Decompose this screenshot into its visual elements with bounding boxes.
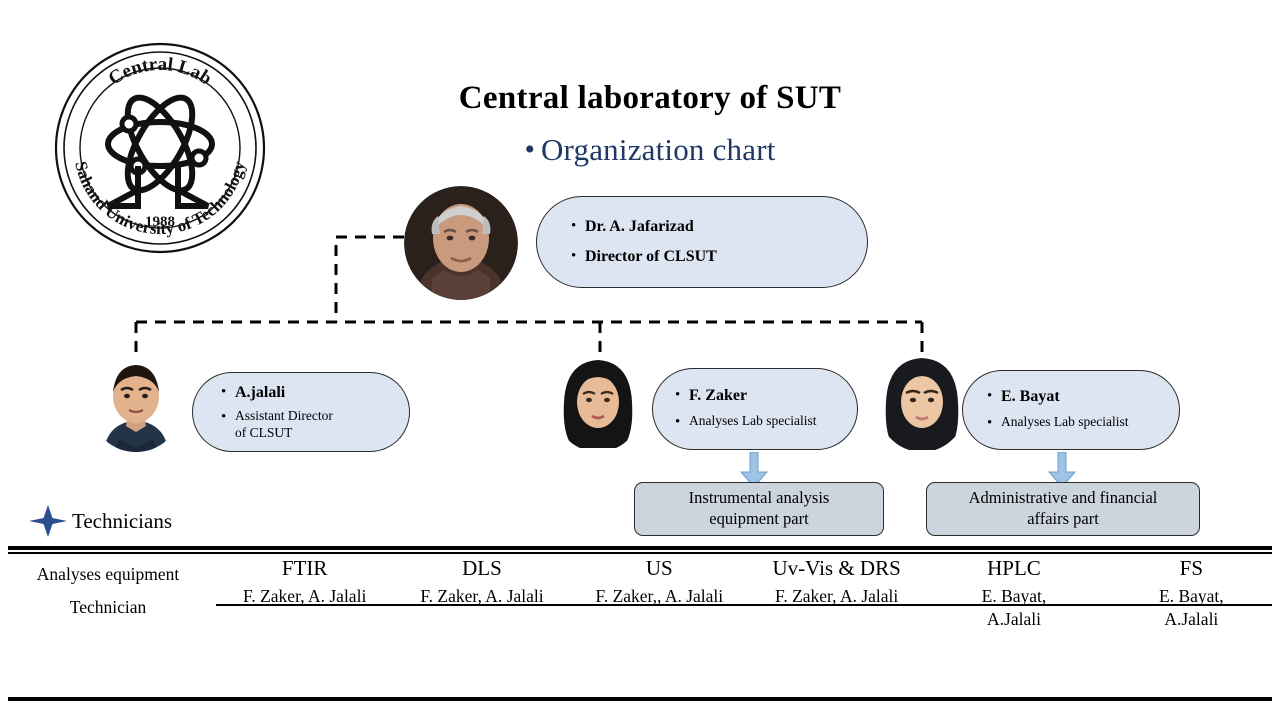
avatar-assistant	[88, 352, 184, 452]
column-header-uvvis-drs: Uv-Vis & DRS	[748, 556, 925, 585]
column-header-ftir: FTIR	[216, 556, 393, 585]
column-header-dls: DLS	[393, 556, 570, 585]
central-lab-logo: 1988 Central Lab Sahand University of Te…	[52, 40, 268, 256]
table-row-technician: Technician F. Zaker, A. Jalali F. Zaker,…	[0, 585, 1280, 645]
assistant-name: A.jalali	[235, 383, 285, 403]
bayat-name: E. Bayat	[1001, 387, 1060, 407]
assistant-role-line: • Assistant Director of CLSUT	[221, 408, 395, 441]
bullet-icon: •	[524, 135, 535, 165]
table-row-header: Analyses equipment FTIR DLS US Uv-Vis & …	[0, 556, 1280, 585]
technician-fs-line1: E. Bayat,	[1159, 586, 1224, 606]
bullet-icon: •	[987, 387, 1001, 406]
person-card-director[interactable]: • Dr. A. Jafarizad • Director of CLSUT	[536, 196, 868, 288]
zaker-name-line: • F. Zaker	[675, 386, 845, 406]
avatar-director	[404, 186, 518, 300]
avatar-specialist-bayat	[876, 352, 968, 452]
technician-cell-fs: E. Bayat, A.Jalali	[1103, 585, 1280, 645]
page-subtitle: Organization chart	[541, 132, 776, 168]
part-instrumental-text: Instrumental analysis equipment part	[689, 488, 830, 529]
column-header-us: US	[571, 556, 748, 585]
bullet-icon: •	[675, 386, 689, 405]
technician-cell-us: F. Zaker,, A. Jalali	[571, 585, 748, 645]
zaker-role: Analyses Lab specialist	[689, 413, 816, 429]
part-instrumental-line1: Instrumental analysis	[689, 488, 830, 507]
avatar-specialist-zaker	[552, 352, 644, 452]
column-header-fs: FS	[1103, 556, 1280, 585]
four-point-star-icon	[28, 503, 68, 539]
assistant-name-line: • A.jalali	[221, 383, 395, 403]
technician-cell-dls: F. Zaker, A. Jalali	[393, 585, 570, 645]
bullet-icon: •	[987, 414, 1001, 433]
person-card-assistant[interactable]: • A.jalali • Assistant Director of CLSUT	[192, 372, 410, 452]
technician-us-line1: F. Zaker,, A. Jalali	[595, 586, 723, 606]
bullet-icon: •	[221, 408, 235, 427]
part-administrative-line2: affairs part	[1027, 509, 1099, 528]
bullet-icon: •	[571, 217, 585, 236]
person-card-bayat[interactable]: • E. Bayat • Analyses Lab specialist	[962, 370, 1180, 450]
subtitle-row: • Organization chart	[330, 132, 970, 168]
part-box-administrative[interactable]: Administrative and financial affairs par…	[926, 482, 1200, 536]
row-label-technician: Technician	[0, 585, 216, 645]
technician-fs-line2: A.Jalali	[1164, 609, 1218, 629]
column-header-hplc: HPLC	[925, 556, 1102, 585]
bayat-role: Analyses Lab specialist	[1001, 414, 1128, 430]
part-instrumental-line2: equipment part	[709, 509, 808, 528]
director-role-line: • Director of CLSUT	[571, 247, 841, 267]
assistant-role-line1: Assistant Director	[235, 408, 333, 423]
table-top-rule-thin	[8, 552, 1272, 554]
part-box-instrumental[interactable]: Instrumental analysis equipment part	[634, 482, 884, 536]
technicians-legend: Technicians	[28, 503, 172, 539]
table-bottom-rule	[8, 697, 1272, 701]
bayat-name-line: • E. Bayat	[987, 387, 1167, 407]
director-name-line: • Dr. A. Jafarizad	[571, 217, 841, 237]
technician-hplc-line1: E. Bayat,	[982, 586, 1047, 606]
assistant-role: Assistant Director of CLSUT	[235, 408, 333, 441]
bayat-role-line: • Analyses Lab specialist	[987, 414, 1167, 433]
row-label-equipment: Analyses equipment	[0, 556, 216, 585]
bullet-icon: •	[675, 413, 689, 432]
technician-cell-hplc: E. Bayat, A.Jalali	[925, 585, 1102, 645]
part-administrative-text: Administrative and financial affairs par…	[969, 488, 1158, 529]
part-administrative-line1: Administrative and financial	[969, 488, 1158, 507]
assistant-role-line2: of CLSUT	[235, 425, 292, 440]
table-top-rule	[8, 546, 1272, 550]
bullet-icon: •	[221, 383, 235, 402]
logo-bottom-text: Sahand University of Technology	[71, 159, 249, 238]
technician-uvvis-line1: F. Zaker, A. Jalali	[775, 586, 898, 606]
technicians-label: Technicians	[72, 509, 172, 534]
technician-hplc-line2: A.Jalali	[987, 609, 1041, 629]
person-card-zaker[interactable]: • F. Zaker • Analyses Lab specialist	[652, 368, 858, 450]
bullet-icon: •	[571, 247, 585, 266]
technician-cell-ftir: F. Zaker, A. Jalali	[216, 585, 393, 645]
zaker-role-line: • Analyses Lab specialist	[675, 413, 845, 432]
technician-dls-line1: F. Zaker, A. Jalali	[420, 586, 543, 606]
director-name: Dr. A. Jafarizad	[585, 217, 694, 237]
director-role: Director of CLSUT	[585, 247, 717, 267]
page-title: Central laboratory of SUT	[330, 80, 970, 117]
zaker-name: F. Zaker	[689, 386, 747, 406]
technician-ftir-line1: F. Zaker, A. Jalali	[243, 586, 366, 606]
technician-cell-uvvis-drs: F. Zaker, A. Jalali	[748, 585, 925, 645]
